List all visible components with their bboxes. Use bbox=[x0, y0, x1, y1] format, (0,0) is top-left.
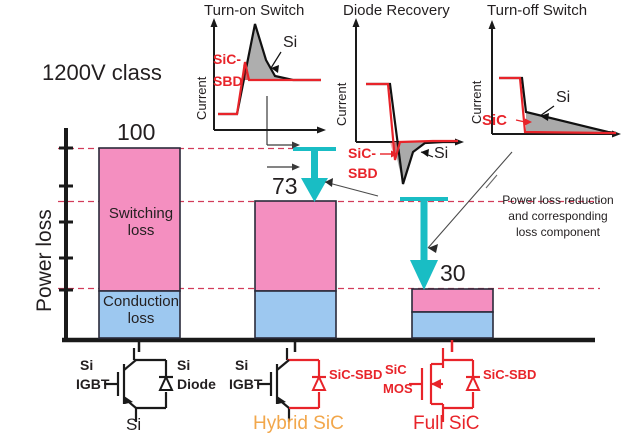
diode-label-si: Si bbox=[434, 146, 448, 162]
bar-value-full: 30 bbox=[440, 262, 466, 285]
device-hybrid-sic: Si IGBT SiC-SBD Hybrid SiC bbox=[233, 346, 368, 438]
waveform-turn-off-switch: Turn-off Switch Current SiC Si bbox=[468, 2, 628, 157]
device-full-left-label-2: MOS bbox=[383, 382, 413, 395]
device-si-left-label-2: IGBT bbox=[76, 377, 109, 391]
annotation-line-2: and corresponding bbox=[489, 208, 627, 224]
annotation-leader bbox=[486, 175, 497, 188]
device-si-caption: Si bbox=[126, 416, 141, 433]
bar-hybrid-switching bbox=[255, 201, 336, 291]
turnon-label-sic: SiC- bbox=[213, 52, 241, 66]
bar-value-hybrid: 73 bbox=[272, 175, 298, 198]
bar-full-conduction bbox=[412, 312, 493, 338]
waveform-turn-on-switch: Turn-on Switch Current SiC- SBD Si bbox=[193, 2, 328, 152]
turnon-label-sbd: SBD bbox=[213, 74, 243, 88]
device-hybrid-left-label-2: IGBT bbox=[229, 377, 262, 391]
conduction-loss-label: Conduction loss bbox=[100, 293, 182, 328]
diode-label-sic: SiC- bbox=[348, 146, 376, 160]
turnon-label-si: Si bbox=[283, 35, 297, 51]
waveform-diode-recovery: Diode Recovery Current SiC- SBD Si bbox=[333, 2, 473, 190]
turnoff-label-sic: SiC bbox=[482, 113, 507, 128]
bar-value-si: 100 bbox=[117, 121, 155, 144]
device-full-left-label-1: SiC bbox=[385, 363, 407, 376]
device-si-right-label-1: Si bbox=[177, 358, 190, 372]
bar-hybrid-conduction bbox=[255, 291, 336, 338]
diode-si-trace bbox=[366, 84, 458, 184]
device-si-left-label-1: Si bbox=[80, 358, 93, 372]
diode-label-sbd: SBD bbox=[348, 166, 378, 180]
device-si-right-label-2: Diode bbox=[177, 377, 216, 391]
device-full-sic: SiC MOS SiC-SBD Full SiC bbox=[385, 346, 535, 438]
device-hybrid-right-label: SiC-SBD bbox=[329, 368, 382, 381]
annotation-line-1: Power loss reduction bbox=[489, 192, 627, 208]
device-si: Si IGBT Si Diode Si bbox=[80, 346, 205, 438]
device-full-caption: Full SiC bbox=[413, 414, 480, 433]
device-hybrid-left-label-1: Si bbox=[235, 358, 248, 372]
bar-full-switching bbox=[412, 289, 493, 312]
teal-arrow-hybrid bbox=[293, 149, 336, 202]
switching-loss-label-line1: Switching loss bbox=[102, 205, 180, 240]
annotation-block: Power loss reduction and corresponding l… bbox=[489, 192, 627, 241]
figure-root: 1200V class Power loss bbox=[0, 0, 630, 440]
annotation-line-3: loss component bbox=[489, 224, 627, 240]
turnoff-label-si: Si bbox=[556, 90, 570, 106]
device-full-right-label: SiC-SBD bbox=[483, 368, 536, 381]
device-hybrid-caption: Hybrid SiC bbox=[253, 414, 344, 433]
